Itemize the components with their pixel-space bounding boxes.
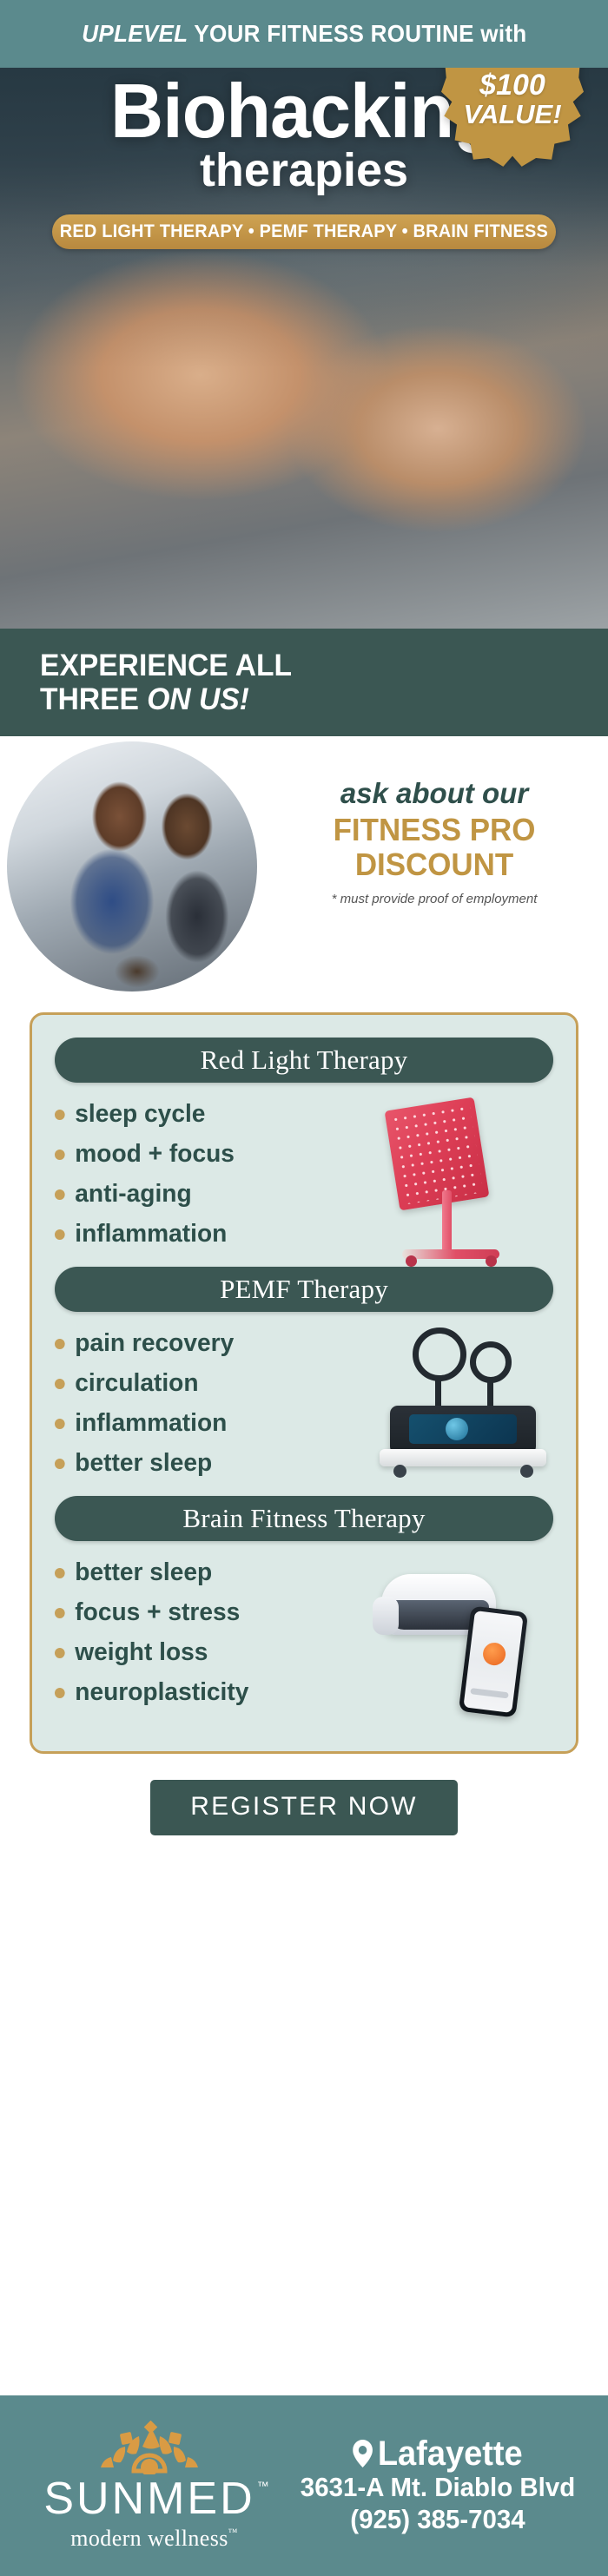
pemf-coil-large-icon [413,1328,466,1381]
bullet-dot-icon [55,1419,65,1429]
brand-trademark: ™ [257,2480,269,2492]
brand-logo-block: SUNMED™ modern wellness™ [0,2421,287,2552]
brand-tagline: modern wellness™ [70,2526,228,2552]
smartphone-screen [463,1611,523,1713]
bullet-dot-icon [55,1568,65,1578]
bullet-dot-icon [55,1379,65,1389]
therapy-title-red-light: Red Light Therapy [201,1044,408,1076]
top-banner: UPLEVEL YOUR FITNESS ROUTINE with [0,0,608,68]
benefit-label: anti-aging [75,1182,191,1207]
footer: SUNMED™ modern wellness™ Lafayette 3631-… [0,2395,608,2576]
pemf-caster-icon [520,1465,533,1478]
bullet-dot-icon [55,1339,65,1349]
fitness-pro-section: ask about our FITNESS PRO DISCOUNT * mus… [0,736,608,997]
therapy-header-brain-fitness: Brain Fitness Therapy [55,1496,553,1541]
benefit-label: pain recovery [75,1331,234,1356]
top-banner-emphasis: UPLEVEL [82,20,188,47]
bullet-dot-icon [55,1110,65,1120]
offer-line-2-plain: THREE [40,682,147,716]
location-city: Lafayette [294,2435,582,2472]
therapy-section-pemf: PEMF Therapy pain recovery circulation i… [32,1267,576,1496]
therapy-title-brain-fitness: Brain Fitness Therapy [182,1503,425,1534]
red-light-wheel-icon [406,1255,417,1267]
location-address: 3631-A Mt. Diablo Blvd [294,2472,582,2504]
value-badge-label: $100 VALUE! [441,68,584,170]
offer-line-2: THREE ON US! [40,682,292,716]
red-light-base-icon [402,1249,499,1259]
therapies-card-wrapper: Red Light Therapy sleep cycle mood + foc… [0,997,608,1754]
top-banner-text: UPLEVEL YOUR FITNESS ROUTINE with [82,20,526,48]
benefit-label: inflammation [75,1222,227,1247]
benefit-label: weight loss [75,1640,208,1665]
benefit-label: sleep cycle [75,1102,205,1127]
red-light-wheel-icon [486,1255,497,1267]
sunburst-mandala-icon [94,2421,205,2474]
fitness-pro-ask: ask about our [273,778,596,809]
therapy-header-red-light: Red Light Therapy [55,1038,553,1083]
pemf-device-illustration [367,1326,550,1499]
benefit-label: neuroplasticity [75,1680,248,1705]
brand-name: SUNMED™ [43,2476,254,2521]
brand-name-text: SUNMED [43,2474,254,2524]
pemf-dial-icon [446,1418,468,1440]
bullet-dot-icon [55,1688,65,1698]
fitness-pro-headline: FITNESS PRO DISCOUNT [278,813,591,881]
pemf-cart-icon [380,1449,546,1466]
benefit-label: circulation [75,1371,198,1396]
therapies-card: Red Light Therapy sleep cycle mood + foc… [30,1012,578,1754]
headset-earpiece-icon [373,1597,399,1635]
register-now-button[interactable]: REGISTER NOW [150,1780,457,1835]
pemf-cable-icon [487,1380,493,1409]
value-badge: $100 VALUE! [441,68,584,170]
tagline-trademark: ™ [228,2527,238,2538]
value-badge-text: VALUE! [463,101,561,128]
bullet-dot-icon [55,1150,65,1160]
fitness-pro-headline-line1: FITNESS PRO [278,813,591,847]
services-pill: RED LIGHT THERAPY • PEMF THERAPY • BRAIN… [52,214,556,249]
brain-fitness-device-illustration [367,1555,550,1729]
red-light-stand-icon [442,1190,452,1253]
bullet-dot-icon [55,1608,65,1618]
offer-text: EXPERIENCE ALL THREE ON US! [40,649,292,716]
bullet-dot-icon [55,1189,65,1200]
trainer-photo [7,741,257,992]
map-pin-icon [353,2440,373,2467]
benefit-label: better sleep [75,1451,212,1476]
benefit-label: focus + stress [75,1600,240,1625]
pemf-console-icon [390,1406,536,1454]
services-pill-text: RED LIGHT THERAPY • PEMF THERAPY • BRAIN… [60,221,548,242]
therapy-body-pemf: pain recovery circulation inflammation b… [55,1331,553,1496]
value-badge-amount: $100 [479,70,545,100]
benefit-label: inflammation [75,1411,227,1436]
therapy-title-pemf: PEMF Therapy [220,1274,388,1305]
smartphone-icon [459,1605,528,1717]
offer-band: EXPERIENCE ALL THREE ON US! [0,629,608,736]
location-block: Lafayette 3631-A Mt. Diablo Blvd (925) 3… [287,2435,608,2535]
therapy-section-red-light: Red Light Therapy sleep cycle mood + foc… [32,1038,576,1267]
benefit-label: mood + focus [75,1142,235,1167]
offer-line-2-italic: ON US! [147,682,249,716]
location-phone[interactable]: (925) 385-7034 [294,2504,582,2536]
red-light-panel-device-illustration [367,1097,550,1270]
benefit-label: better sleep [75,1560,212,1585]
fitness-pro-headline-line2: DISCOUNT [278,847,591,882]
therapy-body-brain-fitness: better sleep focus + stress weight loss … [55,1560,553,1725]
bullet-dot-icon [55,1459,65,1469]
pemf-coil-small-icon [470,1341,512,1383]
bullet-dot-icon [55,1229,65,1240]
fitness-pro-copy: ask about our FITNESS PRO DISCOUNT * mus… [273,778,596,906]
location-city-text: Lafayette [378,2435,523,2472]
cta-section: REGISTER NOW [0,1754,608,1835]
hero-section: Biohacking therapies RED LIGHT THERAPY •… [0,68,608,736]
pemf-caster-icon [393,1465,406,1478]
fitness-pro-fineprint: * must provide proof of employment [273,892,596,906]
therapy-section-brain-fitness: Brain Fitness Therapy better sleep focus… [32,1496,576,1725]
bullet-dot-icon [55,1648,65,1658]
offer-line-1: EXPERIENCE ALL [40,649,292,682]
therapy-header-pemf: PEMF Therapy [55,1267,553,1312]
red-light-panel-icon [385,1097,490,1211]
top-banner-rest: YOUR FITNESS ROUTINE with [194,20,526,47]
brand-tagline-text: modern wellness [70,2526,228,2551]
therapy-body-red-light: sleep cycle mood + focus anti-aging infl… [55,1102,553,1267]
